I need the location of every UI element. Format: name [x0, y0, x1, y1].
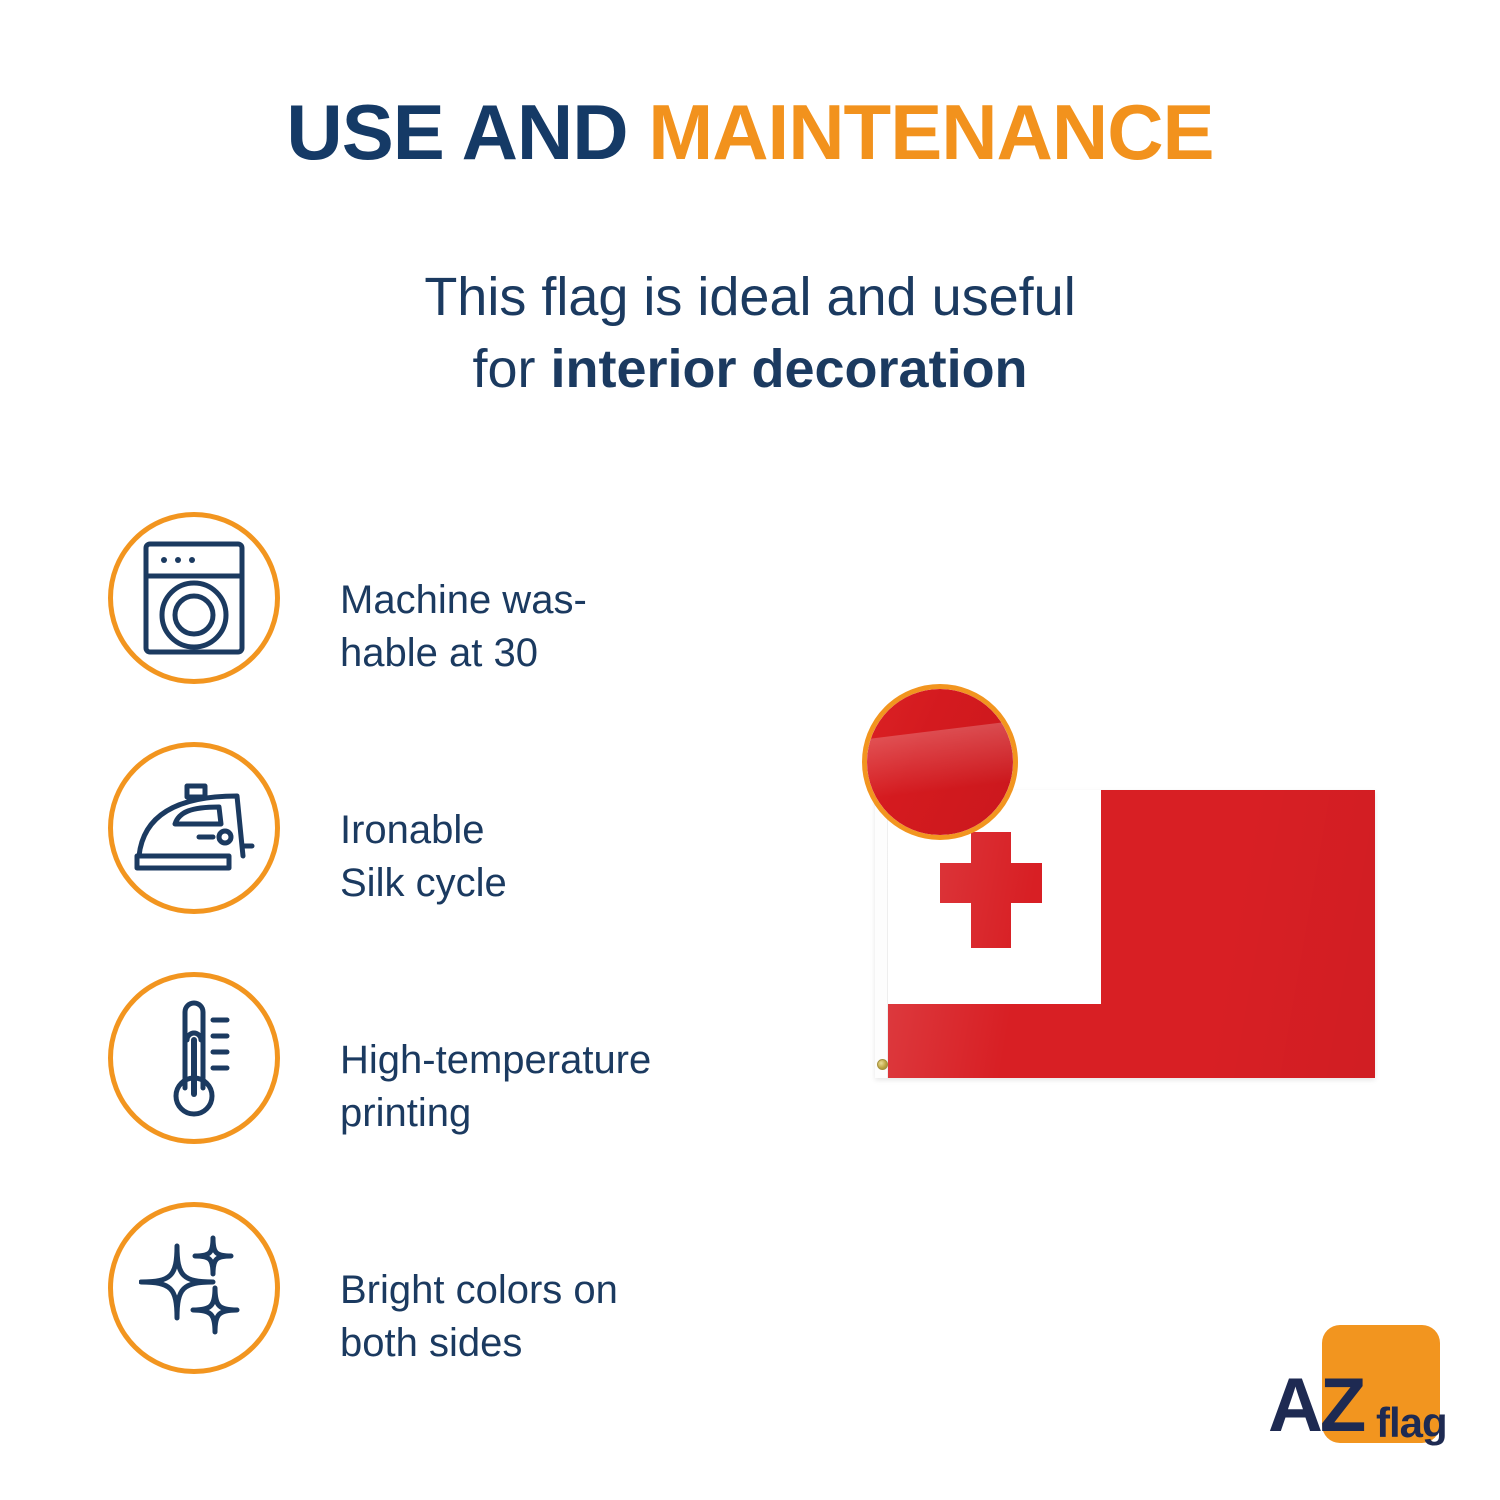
feature-item-ironable: Ironable Silk cycle [108, 742, 808, 972]
fabric-closeup-image [862, 684, 1018, 840]
thermometer-icon [157, 996, 231, 1120]
feature-item-bright-colors: Bright colors on both sides [108, 1202, 808, 1432]
fabric-closeup-bubble [862, 684, 1018, 840]
flag-illustration [862, 684, 1382, 1084]
feature-item-high-temperature: High-temperature printing [108, 972, 808, 1202]
flag-grommet [877, 1059, 888, 1070]
feature-label: Machine was- hable at 30 [340, 574, 587, 680]
feature-list: Machine was- hable at 30 Ironable [108, 512, 808, 1432]
subtitle-line-2: for interior decoration [0, 334, 1500, 406]
azflag-logo-flag: flag [1376, 1402, 1447, 1444]
feature-label: High-temperature printing [340, 1034, 651, 1140]
feature-icon-circle [108, 972, 280, 1144]
sparkle-icon [139, 1232, 249, 1344]
feature-icon-circle [108, 742, 280, 914]
subtitle-line-2-prefix: for [472, 339, 550, 399]
infographic-page: USE AND MAINTENANCE This flag is ideal a… [0, 0, 1500, 1500]
feature-label: Bright colors on both sides [340, 1264, 618, 1370]
title-part-use-and: USE AND [286, 88, 648, 176]
feature-icon-circle [108, 512, 280, 684]
feature-icon-circle [108, 1202, 280, 1374]
subtitle-line-2-bold: interior decoration [550, 339, 1027, 399]
azflag-logo-az: AZ [1268, 1368, 1363, 1444]
iron-icon [133, 782, 255, 874]
feature-item-machine-washable: Machine was- hable at 30 [108, 512, 808, 742]
page-title: USE AND MAINTENANCE [0, 92, 1500, 174]
washing-machine-icon [142, 540, 246, 656]
flag-cross-horizontal [940, 863, 1042, 903]
title-part-maintenance: MAINTENANCE [648, 88, 1213, 176]
page-subtitle: This flag is ideal and useful for interi… [0, 262, 1500, 406]
feature-label: Ironable Silk cycle [340, 804, 507, 910]
subtitle-line-1: This flag is ideal and useful [0, 262, 1500, 334]
